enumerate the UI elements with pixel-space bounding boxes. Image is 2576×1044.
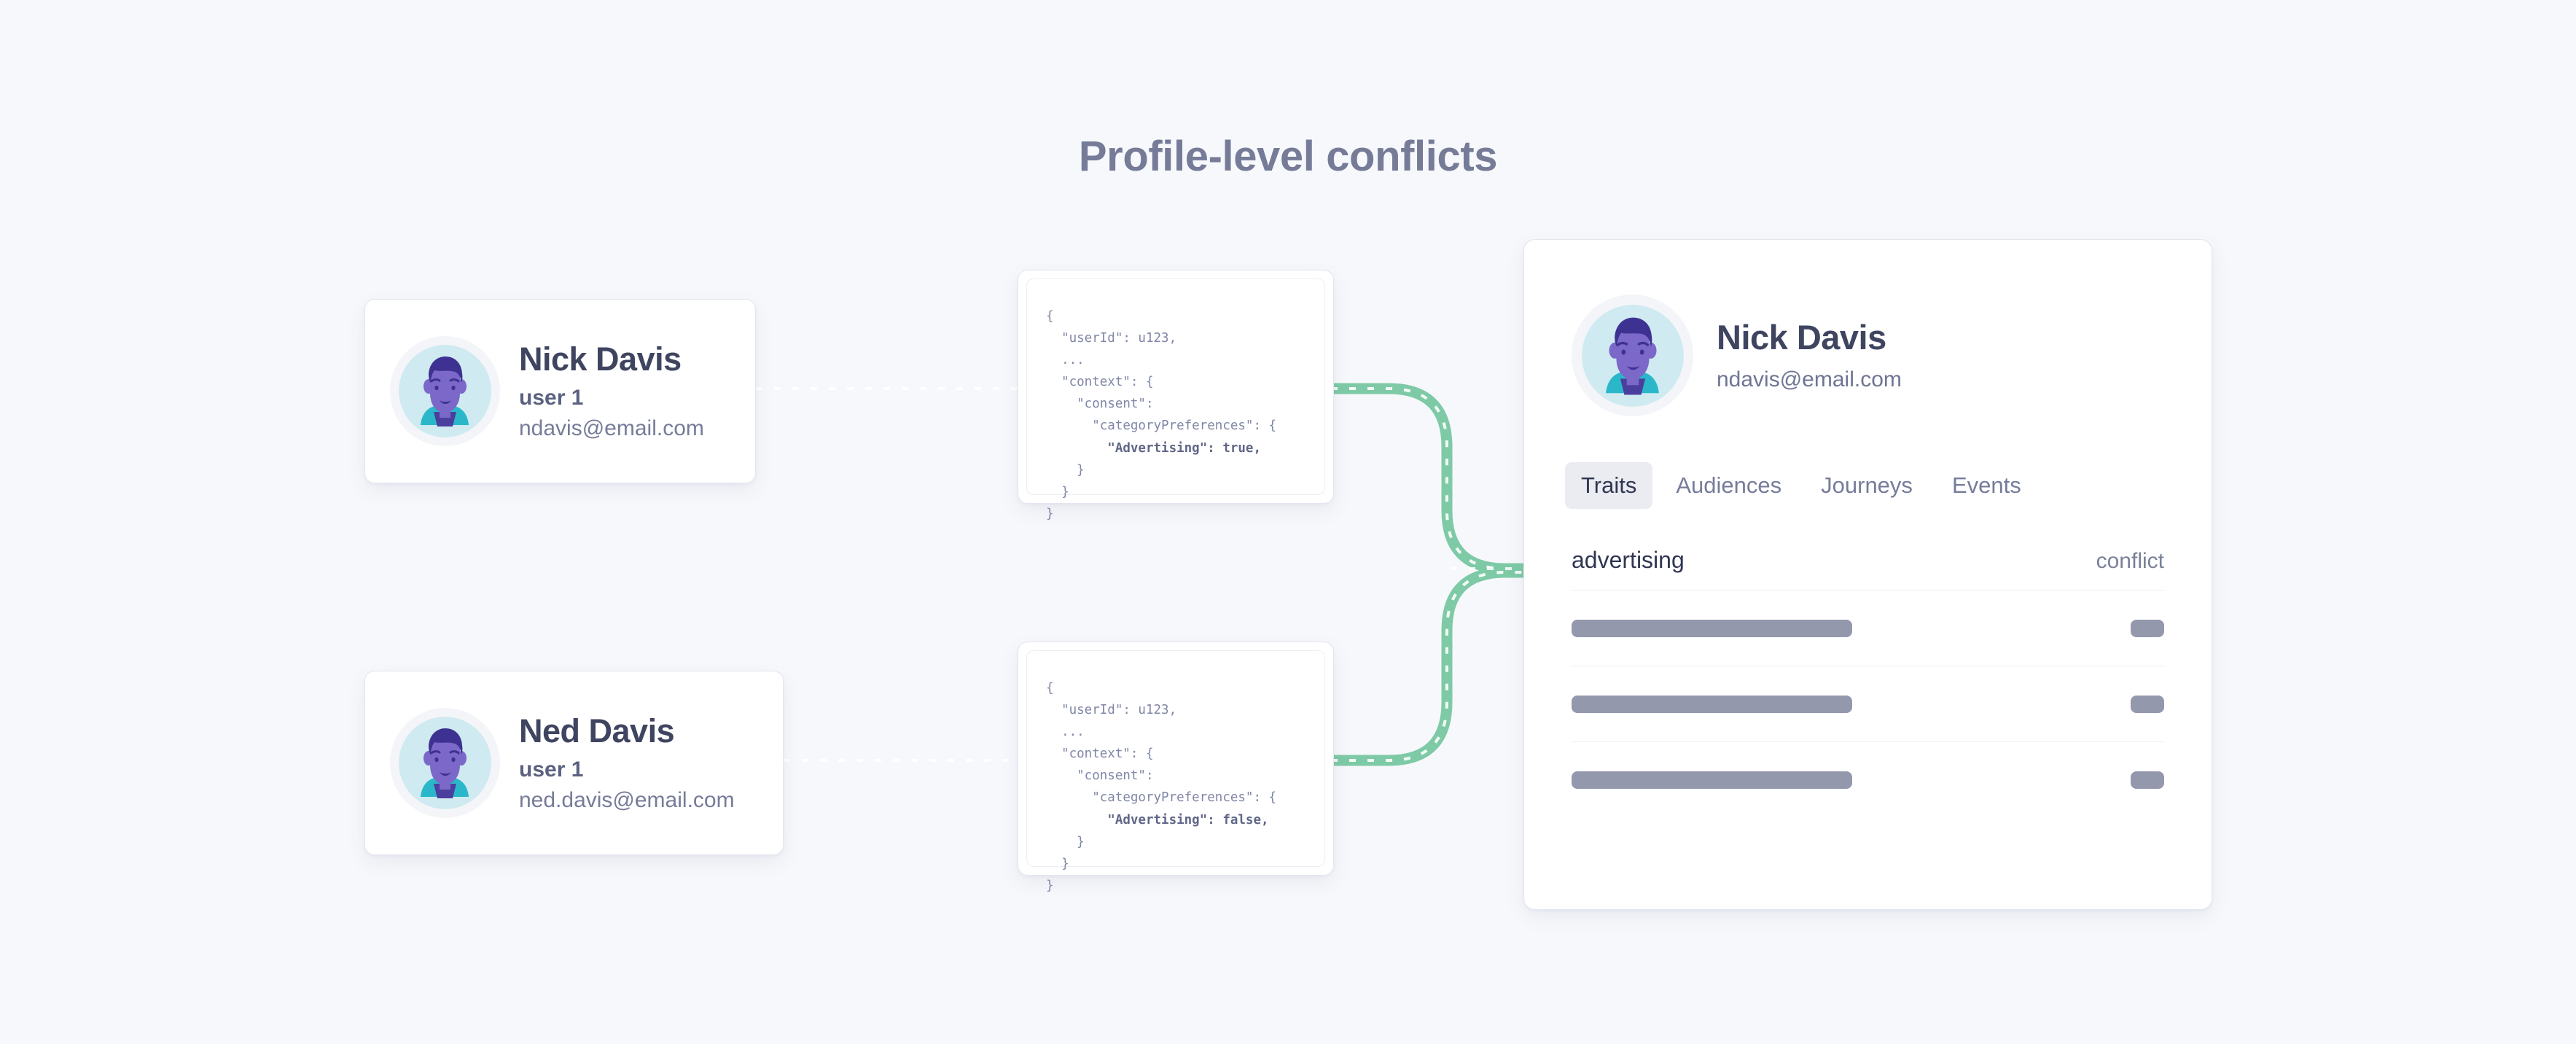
trait-key-label: advertising [1572,547,1685,574]
tab-traits[interactable]: Traits [1565,462,1652,509]
profile-name: Nick Davis [519,340,704,378]
source-profile-card-2[interactable]: Ned Davis user 1 ned.davis@email.com [364,671,784,855]
connector-payload1-to-profile [1331,389,1527,569]
table-row[interactable] [1572,666,2164,741]
connector-payload2-to-profile [1331,572,1527,760]
payload-lines: { "userId": u123, ... "context": { "cons… [1046,681,1276,893]
profile-meta: Nick Davis user 1 ndavis@email.com [519,340,704,442]
profile-meta: Ned Davis user 1 ned.davis@email.com [519,712,735,814]
profile-panel-header: Nick Davis ndavis@email.com [1524,240,2212,416]
profile-identifier: user 1 [519,757,735,783]
payload-code-block: { "userId": u123, ... "context": { "cons… [1046,305,1324,525]
payload-card-2: { "userId": u123, ... "context": { "cons… [1018,642,1334,876]
payload-code-block: { "userId": u123, ... "context": { "cons… [1046,677,1324,897]
table-row[interactable] [1572,590,2164,666]
avatar-illustration-icon [399,717,491,809]
trait-value-placeholder [1572,771,1852,789]
payload-lines: { "userId": u123, ... "context": { "cons… [1046,309,1276,521]
avatar-illustration-icon [1582,305,1684,407]
trait-value-placeholder [1572,620,1852,637]
trait-status-placeholder [2131,771,2164,789]
profile-email: ndavis@email.com [1717,367,1902,393]
trait-value-placeholder [1572,696,1852,713]
trait-status-label: conflict [2096,549,2164,574]
trait-status-placeholder [2131,696,2164,713]
profile-name: Nick Davis [1717,318,1902,357]
table-row[interactable] [1572,741,2164,817]
profile-identifier: user 1 [519,386,704,411]
payload-code-frame: { "userId": u123, ... "context": { "cons… [1026,278,1325,495]
traits-table-header: advertising conflict [1572,547,2164,590]
avatar [390,708,500,818]
avatar-illustration-icon [399,345,491,437]
profile-panel-meta: Nick Davis ndavis@email.com [1717,318,1902,393]
payload-code-frame: { "userId": u123, ... "context": { "cons… [1026,650,1325,867]
profile-name: Ned Davis [519,712,735,750]
page-title: Profile-level conflicts [0,132,2576,181]
avatar [390,336,500,446]
traits-table: advertising conflict [1524,547,2212,817]
tab-events[interactable]: Events [1936,462,2037,509]
payload-card-1: { "userId": u123, ... "context": { "cons… [1018,270,1334,504]
avatar [1572,295,1693,416]
diagram-canvas: Profile-level conflicts [0,0,2576,1044]
tab-audiences[interactable]: Audiences [1660,462,1798,509]
profile-email: ndavis@email.com [519,416,704,442]
profile-tabs: Traits Audiences Journeys Events [1524,416,2212,509]
tab-journeys[interactable]: Journeys [1805,462,1929,509]
source-profile-card-1[interactable]: Nick Davis user 1 ndavis@email.com [364,299,756,483]
trait-status-placeholder [2131,620,2164,637]
profile-email: ned.davis@email.com [519,788,735,814]
unified-profile-panel: Nick Davis ndavis@email.com Traits Audie… [1523,239,2212,910]
